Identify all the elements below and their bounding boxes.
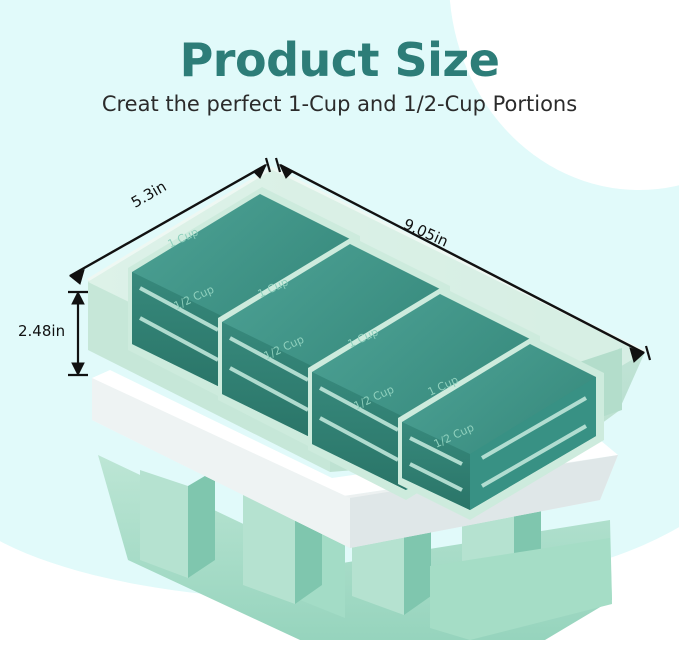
product-size-infographic: Product Size Creat the perfect 1-Cup and… [0, 0, 679, 671]
dimension-label-height: 2.48in [18, 322, 65, 340]
product-illustration: 1 Cup 1/2 Cup 1 Cup 1/2 Cup [0, 0, 679, 671]
dimension-line-height [68, 292, 88, 375]
